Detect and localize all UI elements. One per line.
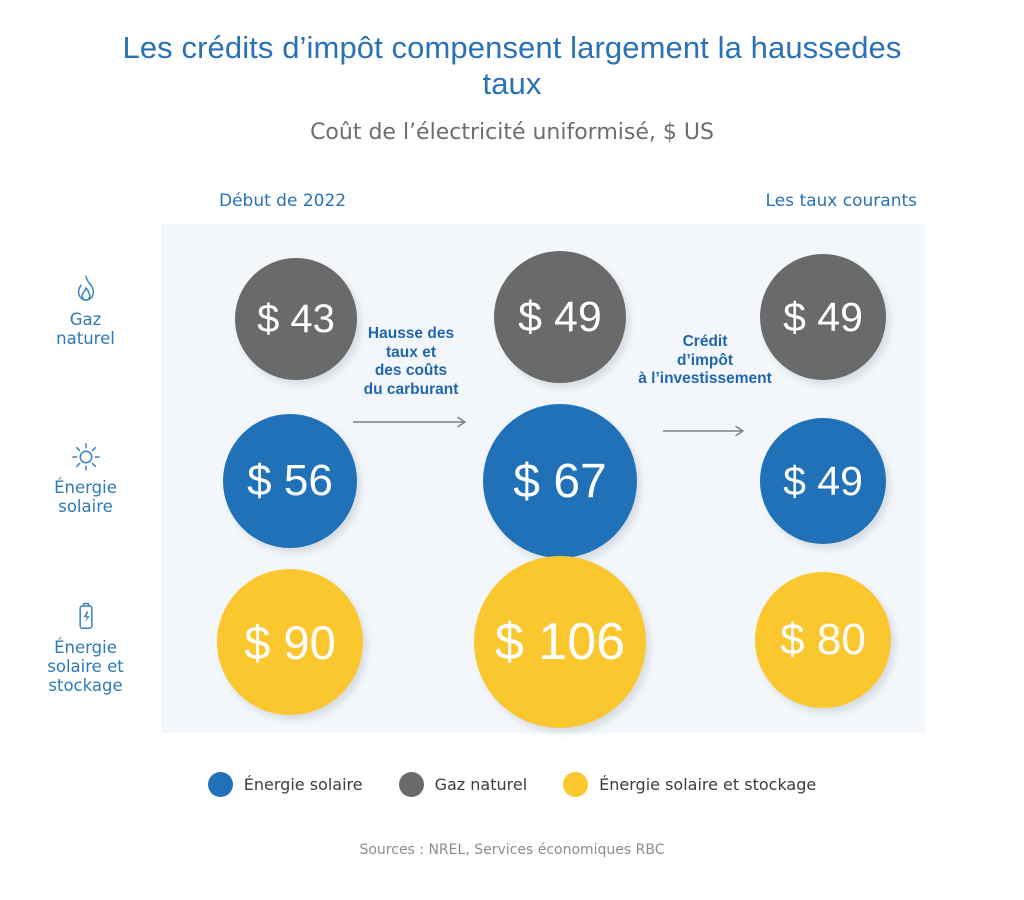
- bubble-solar-2022: $ 56: [223, 414, 357, 548]
- annotation-investment-tax-credit: Crédit d’impôt à l’investissement: [615, 333, 795, 442]
- arrow-right-icon: [330, 415, 492, 434]
- annotation-line: des coûts: [330, 362, 492, 381]
- bubble-value: $ 67: [513, 454, 606, 509]
- bubble-natural-gas-mid: $ 49: [494, 251, 626, 383]
- flame-icon: [18, 272, 153, 306]
- row-label-text: Énergiesolaire etstockage: [18, 638, 153, 695]
- row-label-solar-storage: Énergiesolaire etstockage: [18, 600, 153, 695]
- bubble-value: $ 80: [780, 615, 866, 665]
- chart-panel: $ 43 $ 49 $ 49 $ 56 $ 67 $ 49 $ 90 $ 106…: [161, 224, 925, 733]
- chart-header: Les crédits d’impôt compensent largement…: [0, 30, 1024, 145]
- legend-item-solar[interactable]: Énergie solaire: [208, 772, 363, 797]
- annotation-rate-fuel-increase: Hausse des taux et des coûts du carburan…: [330, 325, 492, 434]
- bubble-solar-mid: $ 67: [483, 404, 637, 558]
- legend-color-swatch: [399, 772, 424, 797]
- battery-bolt-icon: [18, 600, 153, 634]
- bubble-value: $ 49: [783, 294, 863, 341]
- column-header-current-rates: Les taux courants: [766, 191, 917, 211]
- bubble-value: $ 56: [247, 456, 333, 506]
- row-label-natural-gas: Gaznaturel: [18, 272, 153, 348]
- sun-icon: [18, 440, 153, 474]
- legend-color-swatch: [563, 772, 588, 797]
- bubble-solar-storage-2022: $ 90: [217, 569, 363, 715]
- annotation-line: Hausse des: [330, 325, 492, 344]
- annotation-line: taux et: [330, 344, 492, 363]
- annotation-line: Crédit: [615, 333, 795, 352]
- bubble-solar-storage-mid: $ 106: [474, 556, 646, 728]
- legend-item-label: Gaz naturel: [435, 775, 528, 794]
- legend-item-solar-storage[interactable]: Énergie solaire et stockage: [563, 772, 816, 797]
- annotation-line: à l’investissement: [615, 370, 795, 389]
- bubble-solar-storage-current: $ 80: [755, 572, 891, 708]
- legend-item-label: Énergie solaire: [244, 775, 363, 794]
- bubble-value: $ 49: [783, 458, 863, 505]
- arrow-right-icon: [615, 424, 795, 443]
- bubble-value: $ 43: [257, 297, 335, 342]
- row-label-text: Énergiesolaire: [18, 478, 153, 516]
- annotation-line: du carburant: [330, 381, 492, 400]
- row-label-text: Gaznaturel: [18, 310, 153, 348]
- column-headers: Début de 2022 Les taux courants: [161, 191, 925, 215]
- bubble-value: $ 106: [495, 612, 625, 672]
- legend-color-swatch: [208, 772, 233, 797]
- column-header-start-2022: Début de 2022: [219, 191, 346, 211]
- bubble-value: $ 90: [244, 615, 335, 670]
- legend-item-label: Énergie solaire et stockage: [599, 775, 816, 794]
- page-title: Les crédits d’impôt compensent largement…: [122, 30, 902, 102]
- annotation-line: d’impôt: [615, 352, 795, 371]
- page-subtitle: Coût de l’électricité uniformisé, $ US: [0, 120, 1024, 145]
- source-note: Sources : NREL, Services économiques RBC: [0, 842, 1024, 858]
- bubble-value: $ 49: [518, 293, 602, 342]
- legend-item-natural-gas[interactable]: Gaz naturel: [399, 772, 528, 797]
- row-label-solar: Énergiesolaire: [18, 440, 153, 516]
- chart-legend: Énergie solaire Gaz naturel Énergie sola…: [0, 772, 1024, 797]
